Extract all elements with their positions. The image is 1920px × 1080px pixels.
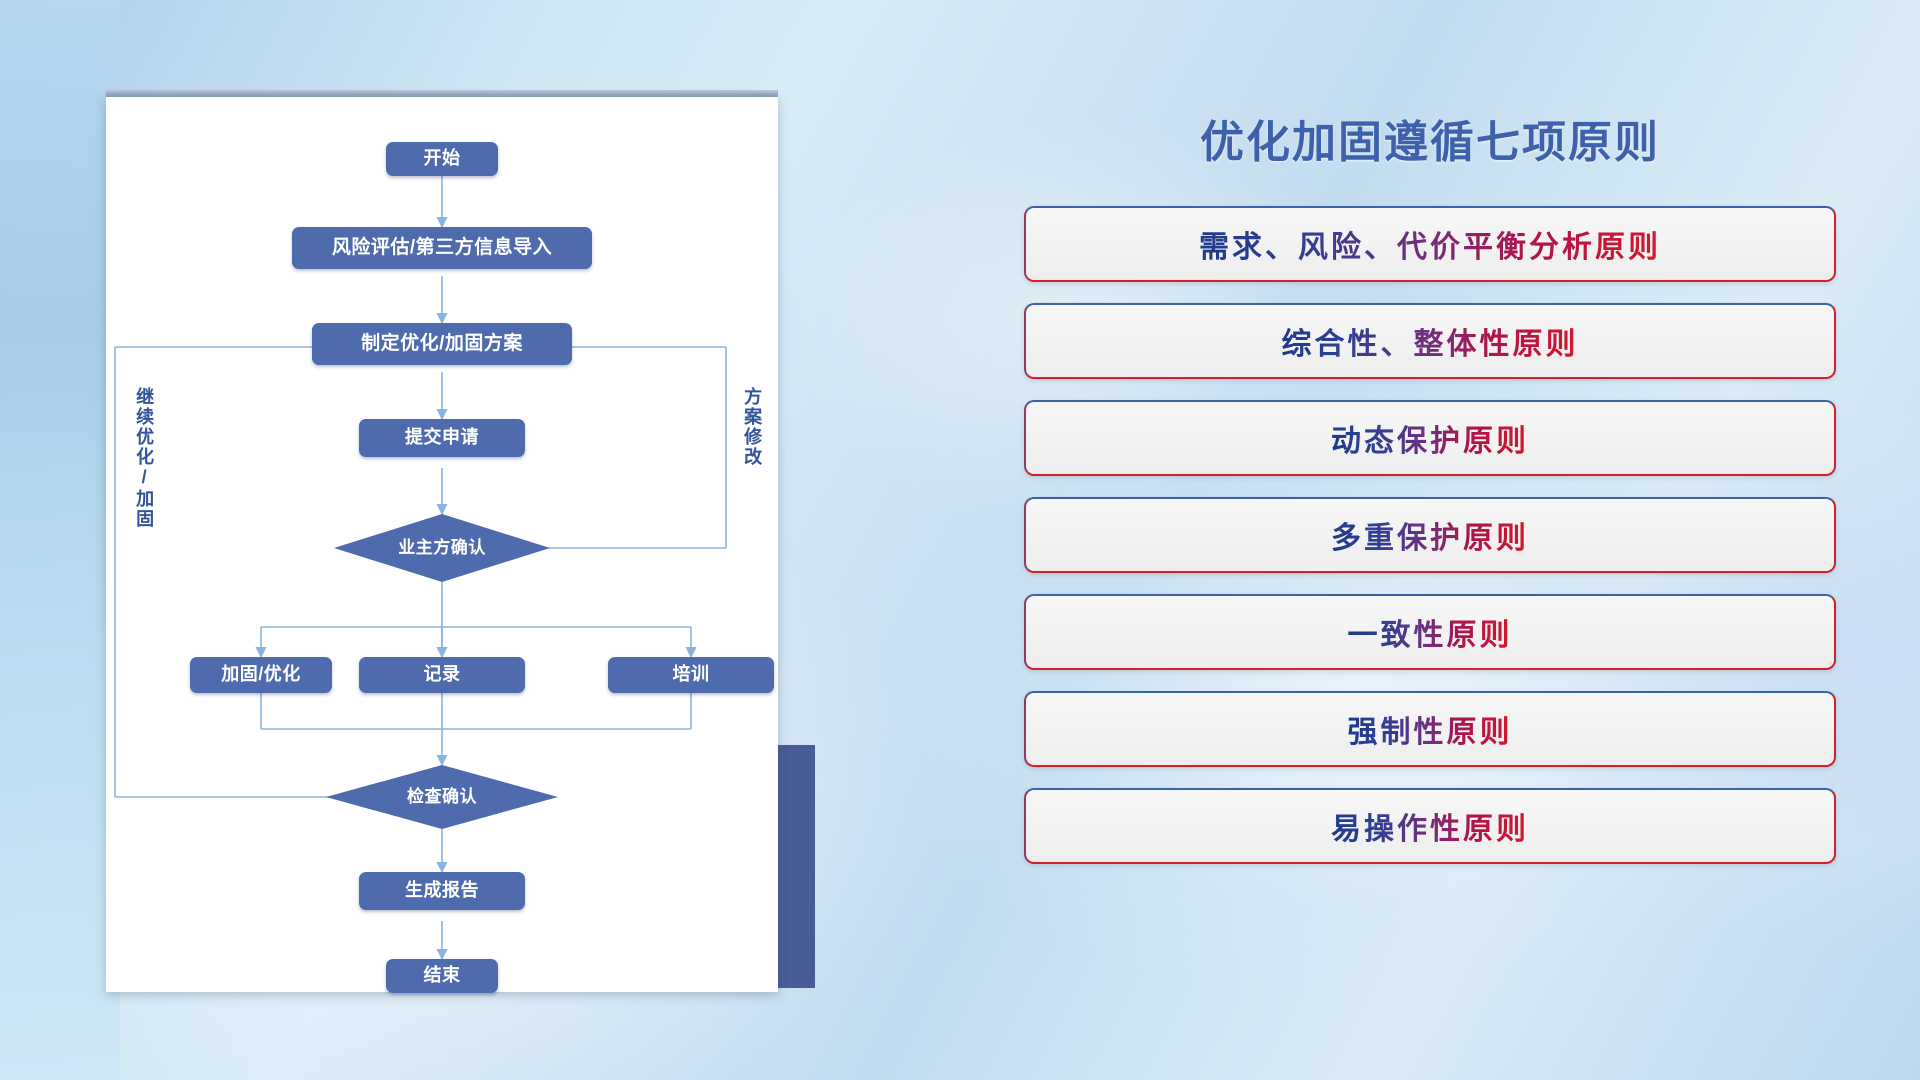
flow-node-submit[interactable]: 提交申请 [359, 419, 525, 457]
principle-label-5: 一致性原则 [1348, 610, 1513, 654]
flow-node-record[interactable]: 记录 [359, 657, 525, 693]
flow-node-report[interactable]: 生成报告 [359, 872, 525, 910]
principle-card-5[interactable]: 一致性原则 [1024, 594, 1836, 670]
principle-label-6: 强制性原则 [1348, 707, 1513, 751]
background-left-band [0, 0, 120, 1080]
principle-card-1[interactable]: 需求、风险、代价平衡分析原则 [1024, 206, 1836, 282]
principle-label-7: 易操作性原则 [1331, 804, 1529, 848]
flow-label-continue-optimize: 继续优化/加固 [134, 387, 153, 529]
flow-node-risk-assessment[interactable]: 风险评估/第三方信息导入 [292, 227, 592, 269]
principles-panel: 优化加固遵循七项原则 需求、风险、代价平衡分析原则 综合性、整体性原则 动态保护… [1000, 80, 1860, 1020]
principle-card-3[interactable]: 动态保护原则 [1024, 400, 1836, 476]
flow-label-plan-revision: 方案修改 [742, 387, 761, 467]
principle-label-4: 多重保护原则 [1331, 513, 1529, 557]
flowchart-card: 开始 风险评估/第三方信息导入 制定优化/加固方案 提交申请 业主方确认 加固/… [106, 97, 778, 992]
flow-node-reinforce[interactable]: 加固/优化 [190, 657, 332, 693]
principle-card-6[interactable]: 强制性原则 [1024, 691, 1836, 767]
principle-label-2: 综合性、整体性原则 [1282, 319, 1579, 363]
principle-label-1: 需求、风险、代价平衡分析原则 [1199, 222, 1661, 266]
principle-card-4[interactable]: 多重保护原则 [1024, 497, 1836, 573]
flow-node-training[interactable]: 培训 [608, 657, 774, 693]
principle-label-3: 动态保护原则 [1331, 416, 1529, 460]
principle-card-7[interactable]: 易操作性原则 [1024, 788, 1836, 864]
panel-title: 优化加固遵循七项原则 [1000, 106, 1860, 170]
flow-node-start[interactable]: 开始 [386, 142, 498, 176]
principles-list: 需求、风险、代价平衡分析原则 综合性、整体性原则 动态保护原则 多重保护原则 一… [1000, 206, 1860, 864]
flowchart-canvas: 开始 风险评估/第三方信息导入 制定优化/加固方案 提交申请 业主方确认 加固/… [106, 97, 778, 992]
flow-node-end[interactable]: 结束 [386, 959, 498, 993]
flow-node-plan[interactable]: 制定优化/加固方案 [312, 323, 572, 365]
flow-node-owner-confirm[interactable]: 业主方确认 [334, 514, 550, 582]
flow-node-check-confirm[interactable]: 检查确认 [326, 765, 558, 829]
principle-card-2[interactable]: 综合性、整体性原则 [1024, 303, 1836, 379]
